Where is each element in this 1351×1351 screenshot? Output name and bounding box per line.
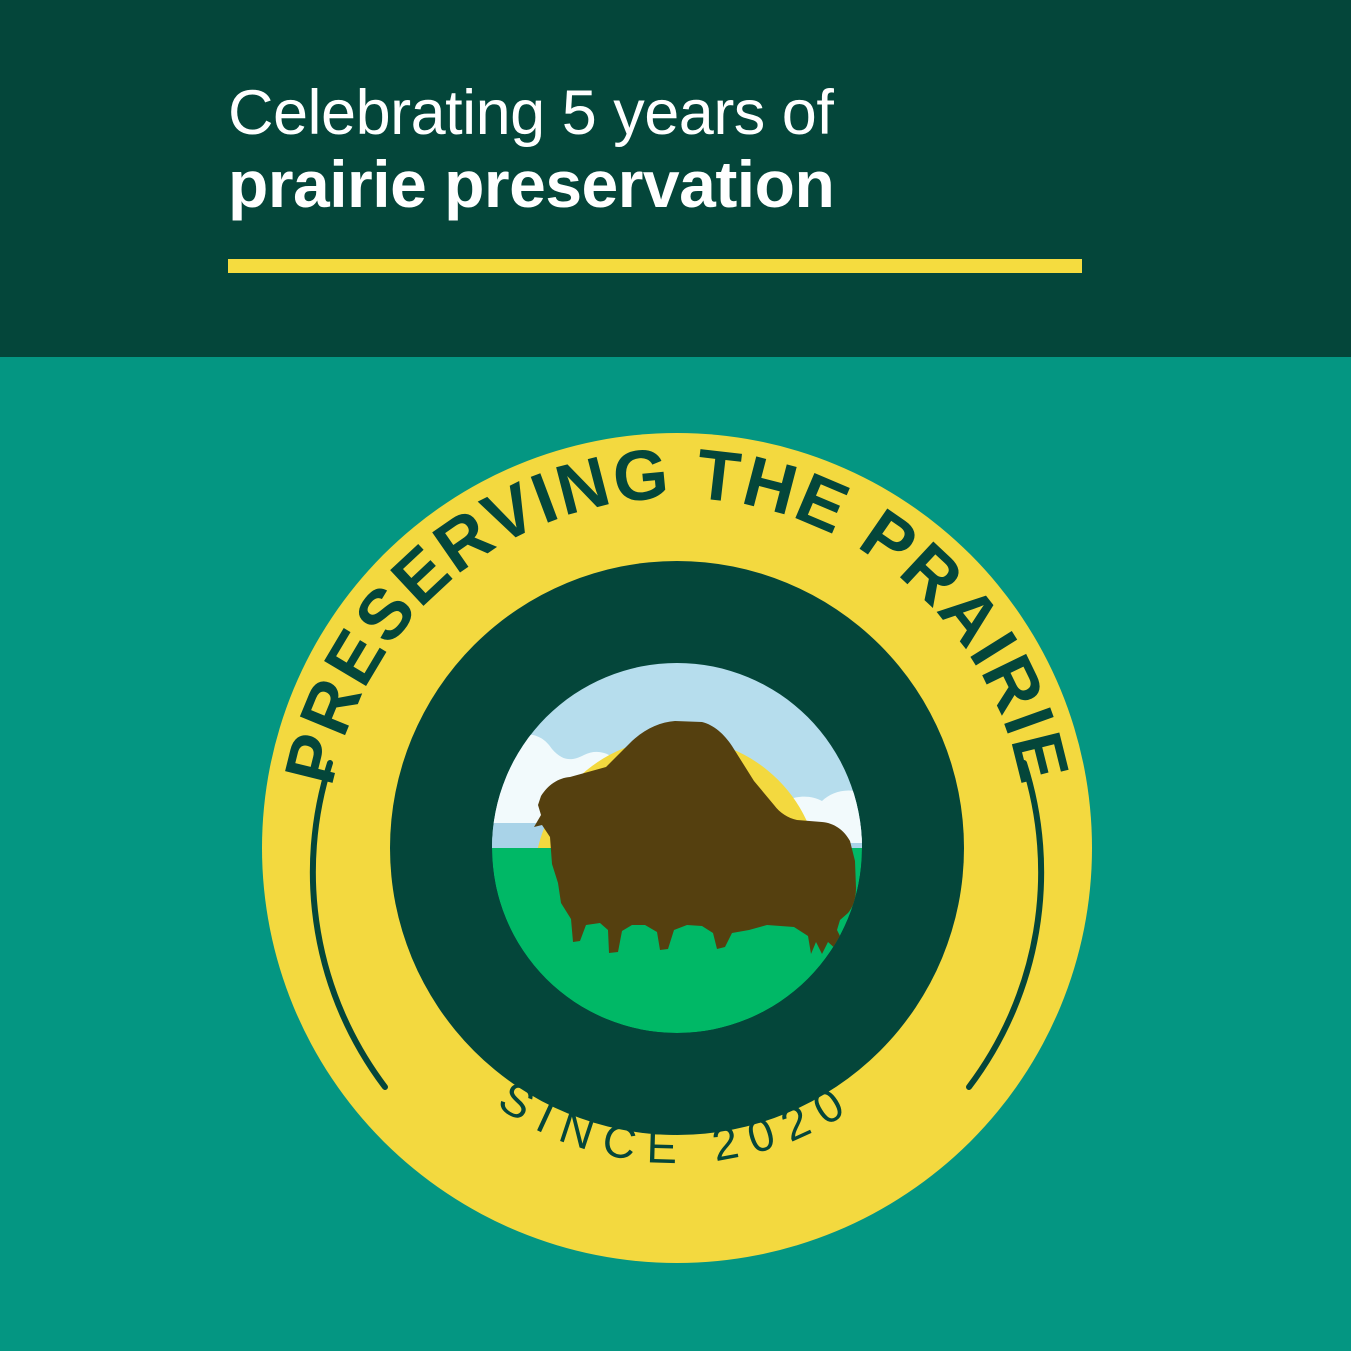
header-band: Celebrating 5 years of prairie preservat… bbox=[0, 0, 1351, 357]
headline-underline-rule bbox=[228, 259, 1082, 273]
headline-line-2: prairie preservation bbox=[228, 150, 1088, 219]
headline-line-1: Celebrating 5 years of bbox=[228, 80, 1088, 146]
prairie-seal-badge: PRESERVING THE PRAIRIE SINCE 2020 bbox=[262, 433, 1092, 1263]
headline: Celebrating 5 years of prairie preservat… bbox=[228, 80, 1088, 219]
poster-canvas: Celebrating 5 years of prairie preservat… bbox=[0, 0, 1351, 1351]
